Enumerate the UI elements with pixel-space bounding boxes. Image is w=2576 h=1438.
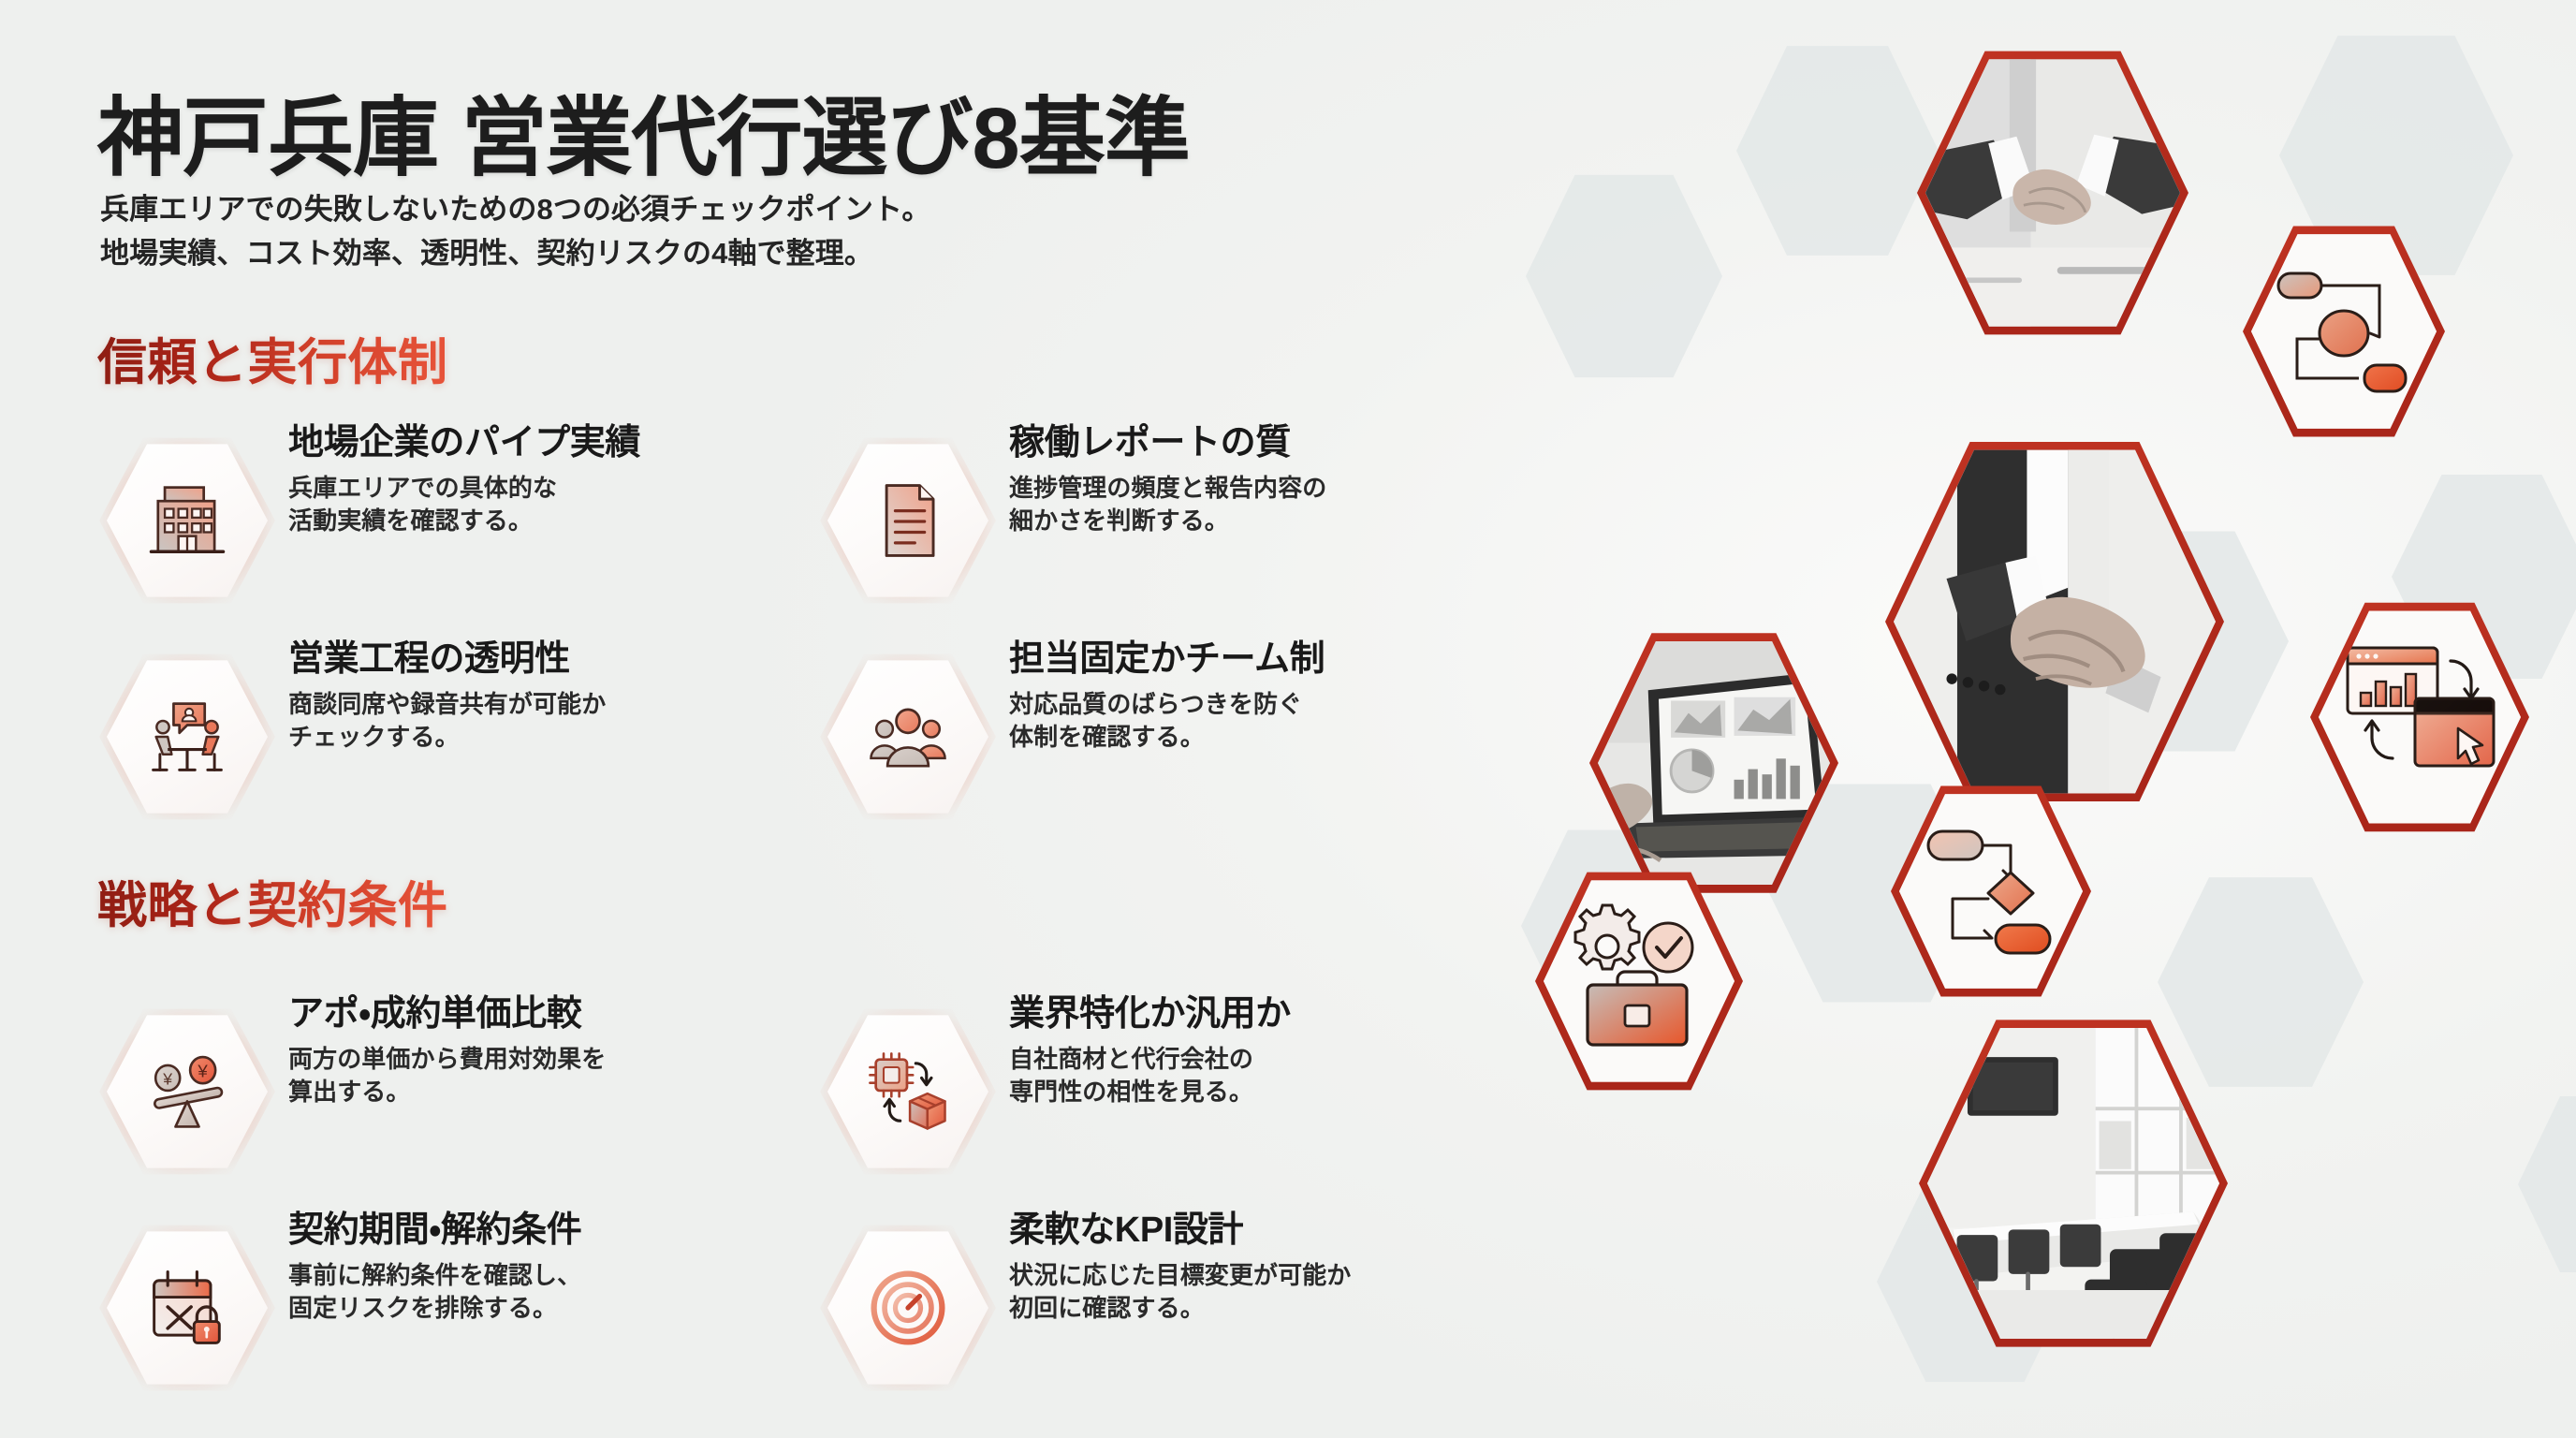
item-desc-line-1: 事前に解約条件を確認し、 [288, 1259, 747, 1292]
feature-item-flexible-kpi[interactable]: 柔軟なKPI設計 状況に応じた目標変更が可能か 初回に確認する。 [814, 1211, 1470, 1407]
item-desc-line-1: 対応品質のばらつきを防ぐ [1009, 688, 1468, 721]
flow-diagram-hex [2243, 223, 2445, 440]
subtitle-line-1: 兵庫エリアでの失敗しないための8つの必須チェックポイント。 [100, 187, 931, 231]
handshake-photo-center [1885, 436, 2224, 807]
gear-briefcase-hex [1535, 869, 1743, 1093]
feature-item-team-structure[interactable]: 担当固定かチーム制 対応品質のばらつきを防ぐ 体制を確認する。 [814, 639, 1470, 836]
feature-item-process-transparency[interactable]: 営業工程の透明性 商談同席や録音共有が可能か チェックする。 [94, 639, 749, 836]
people-group-icon [827, 657, 988, 816]
item-desc-line-2: チェックする。 [288, 721, 747, 754]
icon-hexagon [814, 1216, 1002, 1400]
item-description: 対応品質のばらつきを防ぐ 体制を確認する。 [1009, 688, 1468, 754]
subtitle-line-2: 地場実績、コスト効率、透明性、契約リスクの4軸で整理。 [100, 231, 931, 275]
hexagon-collage [1516, 0, 2576, 1438]
icon-hexagon [94, 1216, 281, 1400]
item-desc-line-1: 兵庫エリアでの具体的な [288, 472, 747, 505]
balance-scale-yen-icon: ¥ ¥ [107, 1012, 268, 1171]
target-goal-icon [827, 1228, 988, 1387]
item-desc-line-1: 商談同席や録音共有が可能か [288, 688, 747, 721]
item-desc-line-1: 進捗管理の頻度と報告内容の [1009, 472, 1468, 505]
page-title: 神戸兵庫 営業代行選び8基準 [97, 94, 1190, 185]
handshake-photo-top [1917, 47, 2188, 339]
conference-room-icon [1927, 1023, 2219, 1343]
infographic-canvas: 神戸兵庫 営業代行選び8基準 兵庫エリアでの失敗しないための8つの必須チェックポ… [0, 0, 2576, 1438]
item-title: 業界特化か汎用か [1009, 994, 1468, 1034]
item-desc-line-2: 固定リスクを排除する。 [288, 1292, 747, 1325]
process-flow-hex [1891, 783, 2091, 1000]
item-description: 事前に解約条件を確認し、 固定リスクを排除する。 [288, 1259, 747, 1325]
svg-text:¥: ¥ [162, 1070, 172, 1089]
boardroom-photo [1919, 1015, 2228, 1352]
item-desc-line-2: 算出する。 [288, 1076, 747, 1108]
chip-box-swap-icon [827, 1012, 988, 1171]
item-description: 状況に応じた目標変更が可能か 初回に確認する。 [1009, 1259, 1468, 1325]
feature-item-industry-specialization[interactable]: 業界特化か汎用か 自社商材と代行会社の 専門性の相性を見る。 [814, 994, 1470, 1191]
laptop-dashboard-photo [1589, 629, 1838, 897]
icon-hexagon [814, 1000, 1002, 1183]
feature-item-contract-terms[interactable]: 契約期間・解約条件 事前に解約条件を確認し、 固定リスクを排除する。 [94, 1211, 749, 1407]
document-report-icon [827, 441, 988, 600]
page-subtitle: 兵庫エリアでの失敗しないための8つの必須チェックポイント。 地場実績、コスト効率… [100, 187, 931, 275]
item-desc-line-1: 自社商材と代行会社の [1009, 1043, 1468, 1076]
meeting-table-icon [107, 657, 268, 816]
dashboard-window-hex [2310, 599, 2529, 835]
item-title: アポ・成約単価比較 [288, 994, 747, 1034]
icon-hexagon [814, 429, 1002, 612]
icon-hexagon [94, 645, 281, 829]
handshake-icon [1894, 445, 2216, 799]
svg-text:¥: ¥ [197, 1061, 208, 1080]
item-description: 商談同席や録音共有が可能か チェックする。 [288, 688, 747, 754]
item-description: 進捗管理の頻度と報告内容の 細かさを判断する。 [1009, 472, 1468, 537]
item-description: 自社商材と代行会社の 専門性の相性を見る。 [1009, 1043, 1468, 1108]
section-heading-trust: 信頼と実行体制 [97, 323, 448, 394]
item-desc-line-2: 細かさを判断する。 [1009, 505, 1468, 537]
item-description: 両方の単価から費用対効果を 算出する。 [288, 1043, 747, 1108]
section-heading-strategy: 戦略と契約条件 [97, 866, 448, 937]
icon-hexagon [94, 429, 281, 612]
item-desc-line-2: 専門性の相性を見る。 [1009, 1076, 1468, 1108]
calendar-cancel-lock-icon [107, 1228, 268, 1387]
feature-item-report-quality[interactable]: 稼働レポートの質 進捗管理の頻度と報告内容の 細かさを判断する。 [814, 423, 1470, 620]
item-title: 契約期間・解約条件 [288, 1211, 747, 1251]
item-title: 稼働レポートの質 [1009, 423, 1468, 463]
content-panel: 神戸兵庫 営業代行選び8基準 兵庫エリアでの失敗しないための8つの必須チェックポ… [0, 0, 1535, 1438]
item-description: 兵庫エリアでの具体的な 活動実績を確認する。 [288, 472, 747, 537]
feature-item-unit-price-comparison[interactable]: ¥ ¥ アポ・成約単価比較 両方の単価から費用対効果を 算出する。 [94, 994, 749, 1191]
icon-hexagon [814, 645, 1002, 829]
item-desc-line-2: 活動実績を確認する。 [288, 505, 747, 537]
item-desc-line-1: 両方の単価から費用対効果を [288, 1043, 747, 1076]
building-icon [107, 441, 268, 600]
item-title: 担当固定かチーム制 [1009, 639, 1468, 680]
feature-item-local-track-record[interactable]: 地場企業のパイプ実績 兵庫エリアでの具体的な 活動実績を確認する。 [94, 423, 749, 620]
item-desc-line-1: 状況に応じた目標変更が可能か [1009, 1259, 1468, 1292]
item-title: 柔軟なKPI設計 [1009, 1211, 1468, 1251]
item-desc-line-2: 体制を確認する。 [1009, 721, 1468, 754]
icon-hexagon: ¥ ¥ [94, 1000, 281, 1183]
item-desc-line-2: 初回に確認する。 [1009, 1292, 1468, 1325]
item-title: 地場企業のパイプ実績 [288, 423, 747, 463]
item-title: 営業工程の透明性 [288, 639, 747, 680]
